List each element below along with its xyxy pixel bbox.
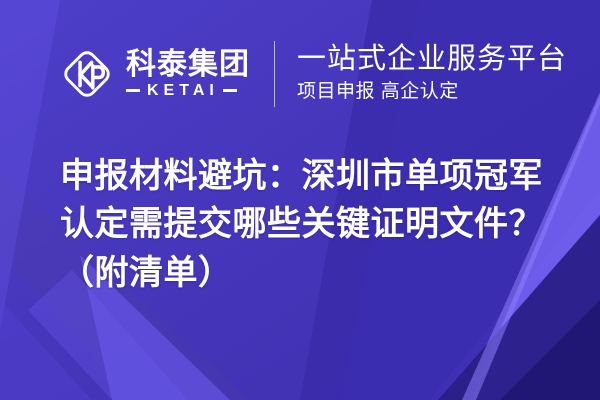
slogan-sub: 项目申报 高企认定 [297,80,567,105]
promo-banner: 科泰集团 KETAI 一站式企业服务平台 项目申报 高企认定 申报材料避坑：深圳… [0,0,600,400]
company-name-en-row: KETAI [126,83,250,99]
brand-logo-text: 科泰集团 KETAI [126,49,250,98]
company-name-cn: 科泰集团 [126,49,250,80]
slogan-main: 一站式企业服务平台 [297,43,567,76]
dash-left-icon [126,89,140,92]
brand-logo[interactable]: 科泰集团 KETAI [58,36,250,112]
banner-header: 科泰集团 KETAI 一站式企业服务平台 项目申报 高企认定 [58,36,567,112]
company-name-en: KETAI [140,83,223,99]
header-divider [274,41,275,107]
slogan-block: 一站式企业服务平台 项目申报 高企认定 [297,43,567,105]
ketai-diamond-kp-monogram-icon [58,45,116,103]
article-title: 申报材料避坑：深圳市单项冠军认定需提交哪些关键证明文件？（附清单） [60,152,560,297]
dash-right-icon [223,89,237,92]
